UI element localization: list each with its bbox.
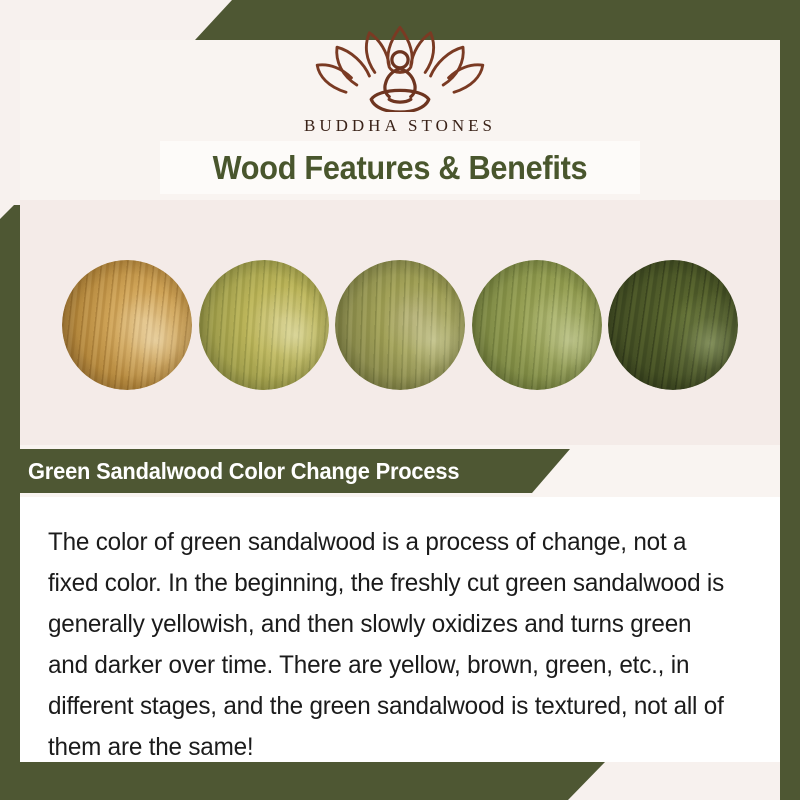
bead-row xyxy=(20,255,780,395)
brand-logo: BUDDHA STONES xyxy=(0,22,800,136)
poster-root: BUDDHA STONES Wood Features & Benefits xyxy=(0,0,800,800)
lotus-meditation-figure-icon xyxy=(310,22,490,112)
frame-accent-left xyxy=(0,205,20,800)
bead-stage-1 xyxy=(62,260,192,390)
section-banner-title: Green Sandalwood Color Change Process xyxy=(28,449,459,493)
description-text: The color of green sandalwood is a proce… xyxy=(48,522,733,768)
bead-stage-2 xyxy=(199,260,329,390)
bead-stage-3 xyxy=(335,260,465,390)
bead-stage-4 xyxy=(472,260,602,390)
bead-stage-5 xyxy=(608,260,738,390)
brand-name: BUDDHA STONES xyxy=(0,116,800,136)
page-title: Wood Features & Benefits xyxy=(177,141,623,194)
